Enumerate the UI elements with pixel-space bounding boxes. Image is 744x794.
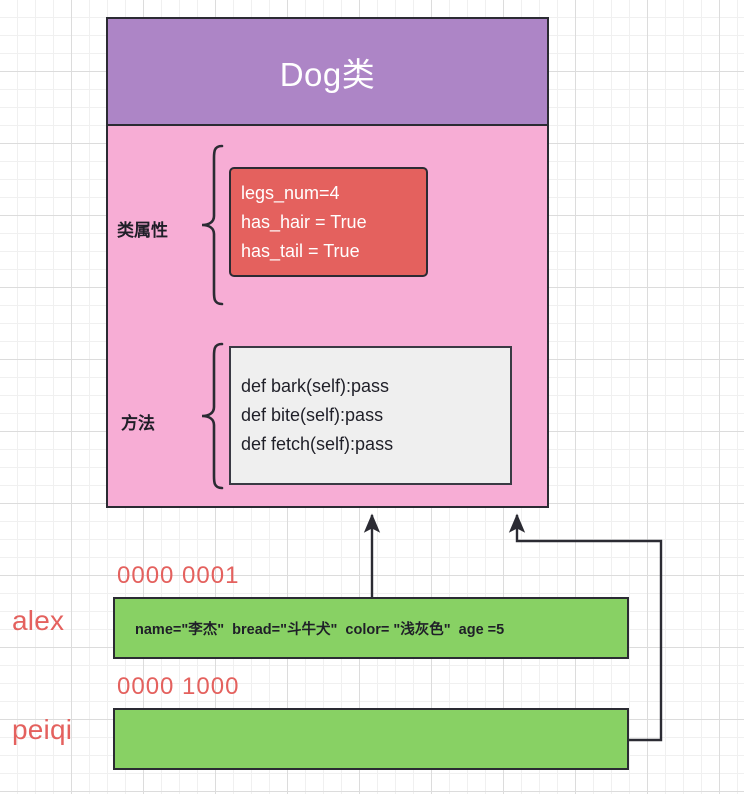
instance-box-alex: name="李杰" bread="斗牛犬" color= "浅灰色" age =… [113,597,629,659]
class-header-box: Dog类 [106,17,549,126]
memory-address-peiqi: 0000 1000 [117,673,239,701]
section-label-attributes: 类属性 [117,216,168,241]
method-line: def bark(self):pass [241,372,510,401]
attribute-line: legs_num=4 [241,179,426,208]
attribute-line: has_tail = True [241,237,426,266]
method-line: def fetch(self):pass [241,430,510,459]
memory-address-alex: 0000 0001 [117,562,239,590]
instance-variable-name-alex: alex [12,605,64,637]
instance-box-peiqi [113,708,629,770]
diagram-canvas: Dog类 类属性 方法 legs_num=4 has_hair = True h… [0,0,744,794]
attribute-line: has_hair = True [241,208,426,237]
class-attributes-box: legs_num=4 has_hair = True has_tail = Tr… [229,167,428,277]
section-label-methods: 方法 [121,409,155,434]
instance-variable-name-peiqi: peiqi [12,714,72,746]
class-methods-box: def bark(self):pass def bite(self):pass … [229,346,512,485]
method-line: def bite(self):pass [241,401,510,430]
instance-attributes-text: name="李杰" bread="斗牛犬" color= "浅灰色" age =… [115,618,504,639]
class-title: Dog类 [280,48,376,96]
